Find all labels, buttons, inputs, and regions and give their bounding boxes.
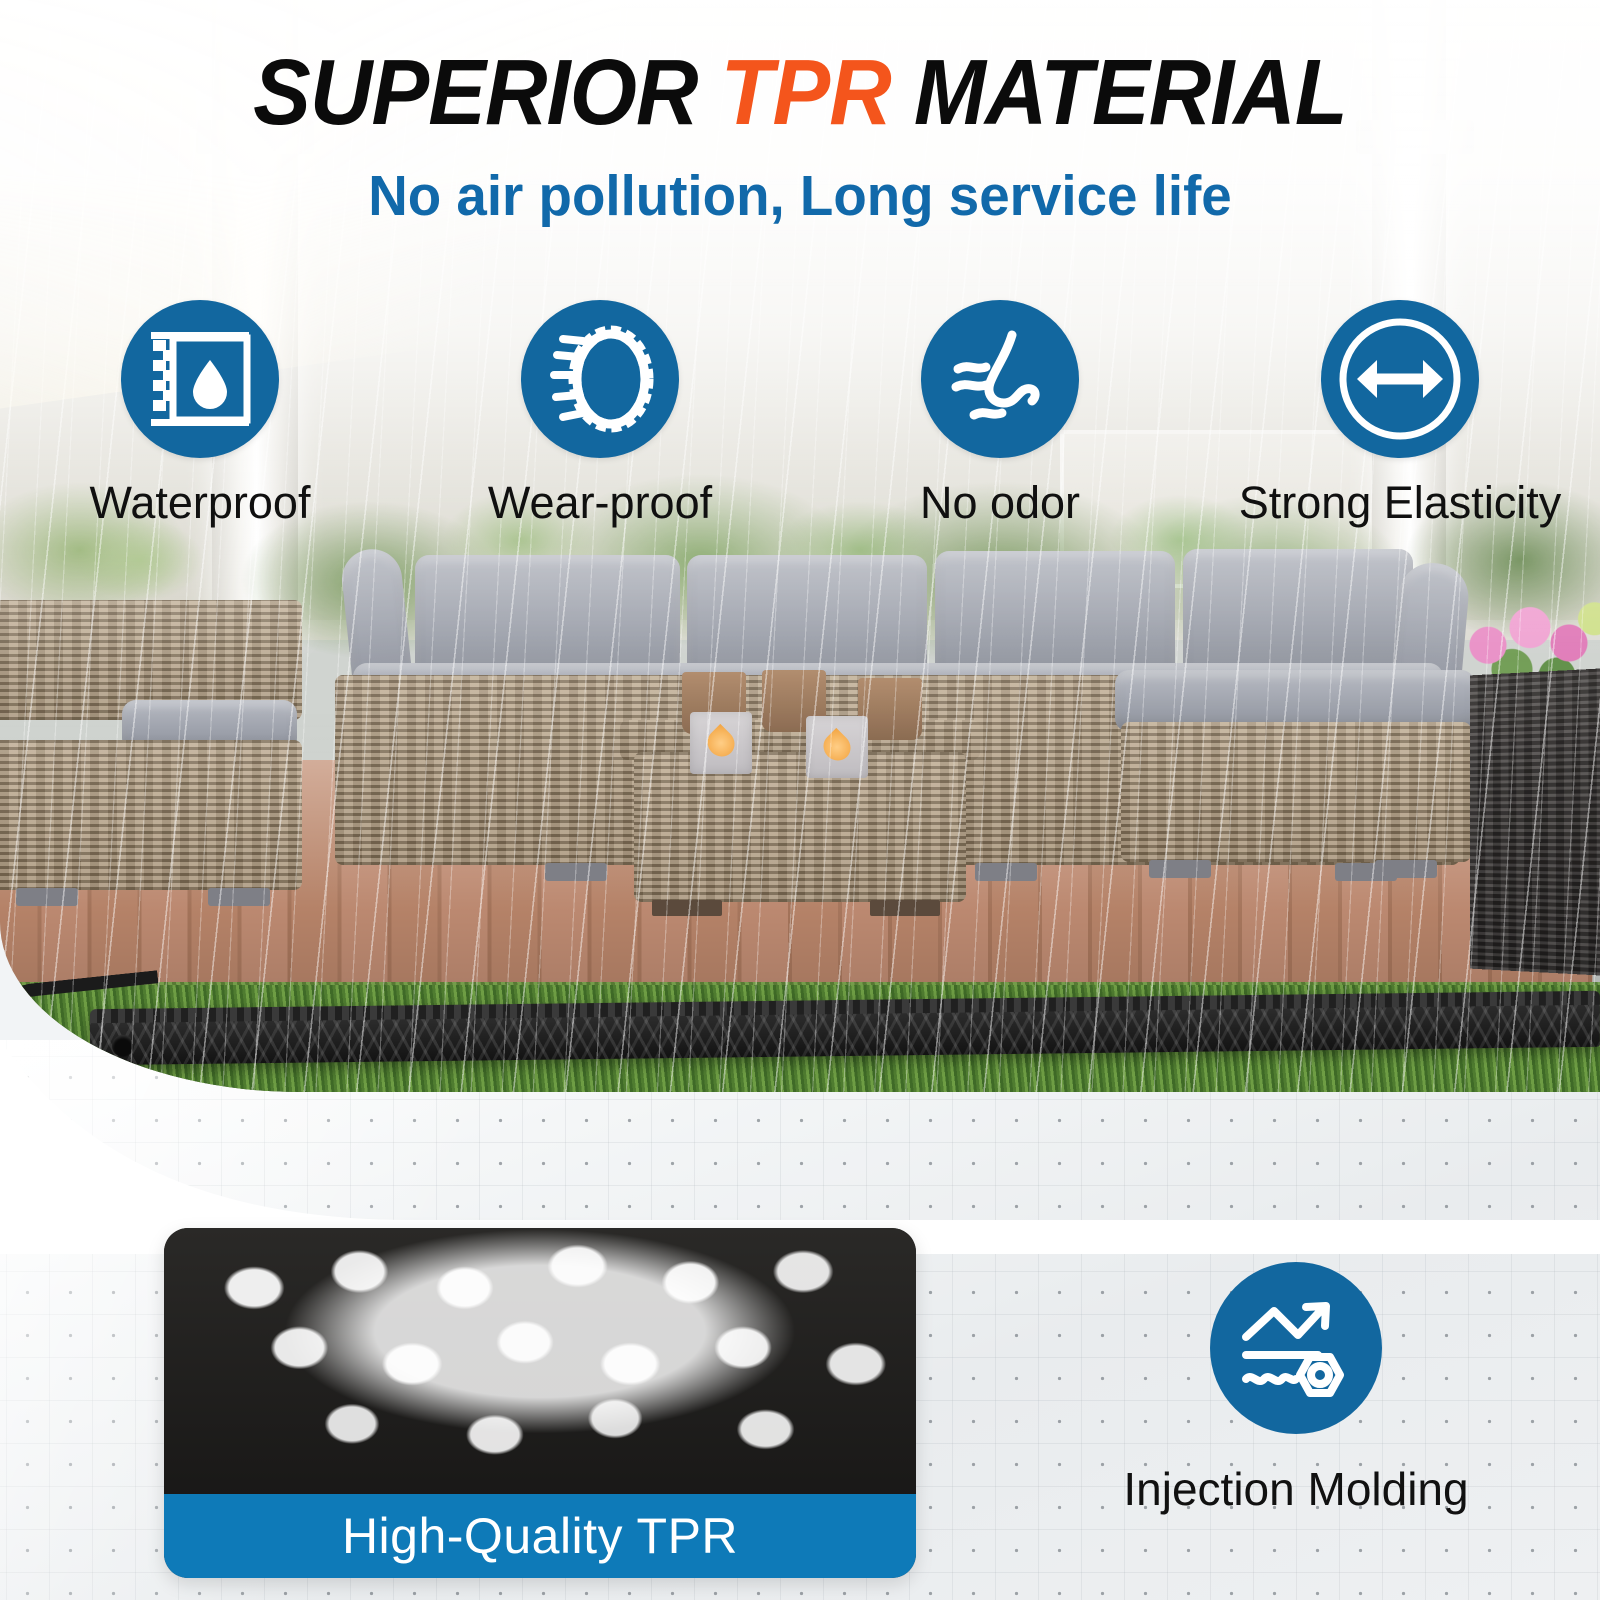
table-body	[634, 752, 966, 902]
feature-label: Strong Elasticity	[1239, 480, 1562, 525]
table-leg	[652, 900, 722, 916]
wear-proof-icon	[521, 300, 679, 458]
page-title: SUPERIOR TPR MATERIAL	[56, 46, 1544, 139]
feature-waterproof: Waterproof	[10, 300, 390, 525]
feature-no-odor: No odor	[810, 300, 1190, 525]
feature-wear-proof: Wear-proof	[410, 300, 790, 525]
furniture-leg	[1149, 860, 1211, 878]
feature-list: Waterproof Wear-proof	[0, 300, 1600, 550]
product-infographic: SUPERIOR TPR MATERIAL No air pollution, …	[0, 0, 1600, 1600]
wicker-coffee-table	[620, 720, 980, 905]
dark-wicker-planter	[1470, 668, 1600, 975]
furniture-leg	[545, 863, 607, 881]
furniture-leg	[1375, 860, 1437, 878]
feature-label: Wear-proof	[488, 480, 712, 525]
elasticity-icon	[1321, 300, 1479, 458]
injection-molding-label: Injection Molding	[1123, 1462, 1468, 1516]
injection-molding-icon	[1210, 1262, 1382, 1434]
armchair-base	[0, 740, 302, 890]
table-leg	[870, 900, 940, 916]
tpr-pellets-card: High-Quality TPR	[164, 1228, 916, 1578]
furniture-leg	[208, 888, 270, 906]
title-part-2: MATERIAL	[891, 40, 1347, 144]
furniture-leg	[16, 888, 78, 906]
feature-strong-elasticity: Strong Elasticity	[1210, 300, 1590, 525]
pellets-caption: High-Quality TPR	[164, 1494, 916, 1578]
waterproof-icon	[121, 300, 279, 458]
heart-lantern	[690, 712, 752, 774]
tpr-pellets-photo	[164, 1228, 916, 1500]
feature-label: Waterproof	[90, 480, 311, 525]
page-subtitle: No air pollution, Long service life	[32, 168, 1568, 225]
furniture-leg	[975, 863, 1037, 881]
ottoman-base	[1121, 722, 1471, 862]
wicker-armchair	[0, 600, 302, 900]
no-odor-icon	[921, 300, 1079, 458]
heart-lantern	[806, 716, 868, 778]
title-accent: TPR	[721, 40, 891, 144]
injection-molding-block: Injection Molding	[1056, 1262, 1536, 1516]
wicker-ottoman	[1115, 670, 1475, 870]
feature-label: No odor	[920, 480, 1080, 525]
title-part-1: SUPERIOR	[253, 40, 720, 144]
